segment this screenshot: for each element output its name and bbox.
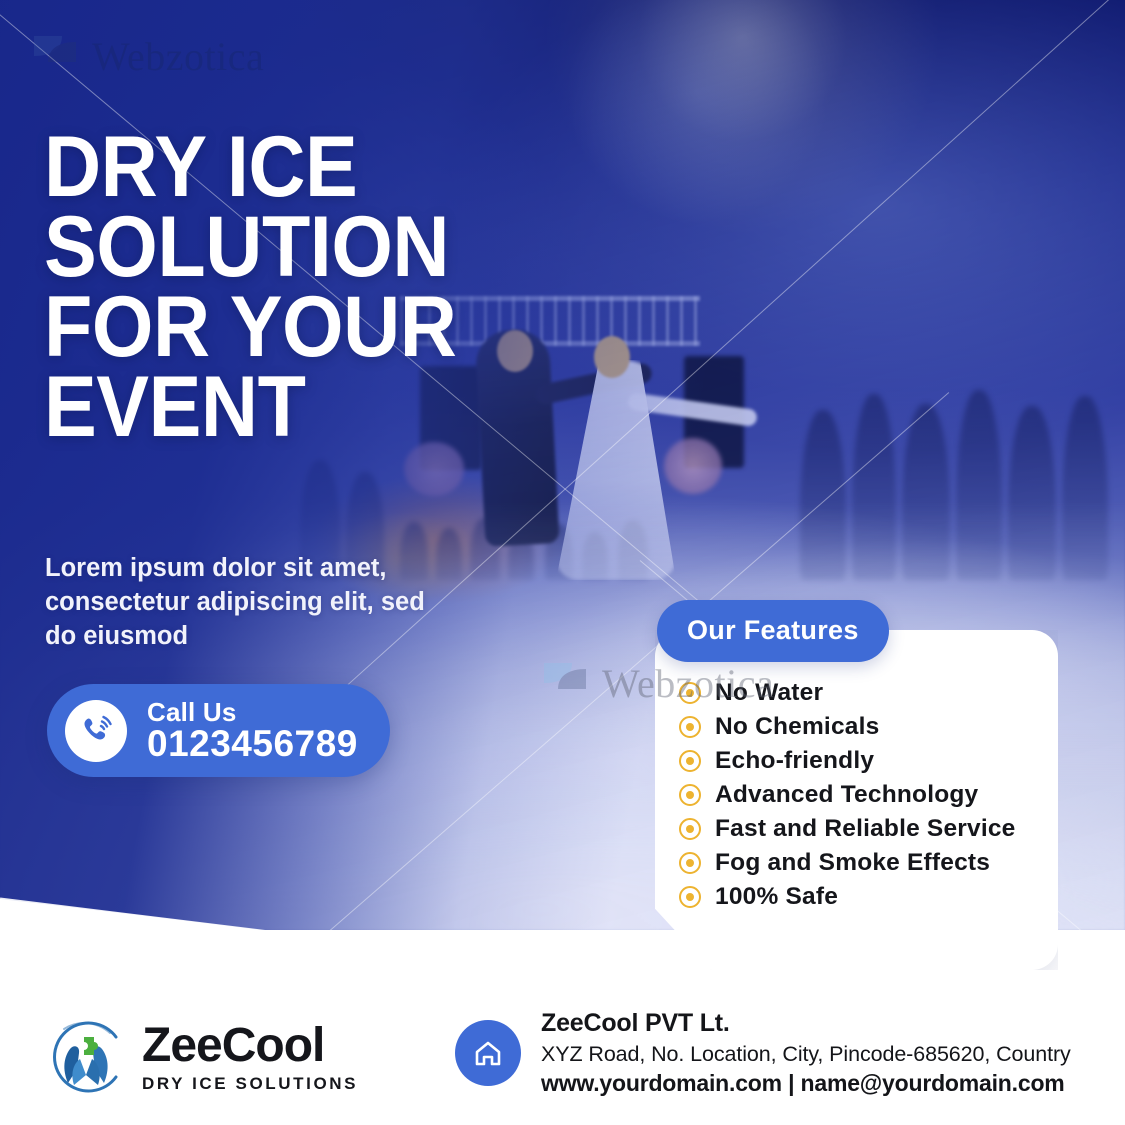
bullet-icon bbox=[679, 886, 701, 908]
feature-label: No Chemicals bbox=[715, 713, 879, 741]
contact-block: ZeeCool PVT Lt. XYZ Road, No. Location, … bbox=[455, 1007, 1071, 1099]
hands-puzzle-icon bbox=[44, 1015, 128, 1099]
contact-web-email[interactable]: www.yourdomain.com | name@yourdomain.com bbox=[541, 1068, 1071, 1099]
list-item: 100% Safe bbox=[679, 880, 1042, 914]
bullet-icon bbox=[679, 682, 701, 704]
contact-address: XYZ Road, No. Location, City, Pincode-68… bbox=[541, 1040, 1071, 1069]
list-item: Fast and Reliable Service bbox=[679, 812, 1042, 846]
footer-bar: ZeeCool DRY ICE SOLUTIONS ZeeCool PVT Lt… bbox=[0, 930, 1125, 1125]
bullet-icon bbox=[679, 784, 701, 806]
list-item: No Chemicals bbox=[679, 710, 1042, 744]
headline-line-3: FOR YOUR bbox=[44, 288, 440, 368]
headline-line-2: SOLUTION bbox=[44, 208, 440, 288]
headline-line-1: DRY ICE bbox=[44, 128, 440, 208]
features-list: No Water No Chemicals Echo-friendly Adva… bbox=[679, 676, 1042, 914]
feature-label: No Water bbox=[715, 679, 823, 707]
contact-company: ZeeCool PVT Lt. bbox=[541, 1007, 1071, 1040]
logo-text: ZeeCool DRY ICE SOLUTIONS bbox=[142, 1022, 358, 1092]
contact-text: ZeeCool PVT Lt. XYZ Road, No. Location, … bbox=[541, 1007, 1071, 1099]
feature-label: Fast and Reliable Service bbox=[715, 815, 1016, 843]
poster-canvas: Webzotica DRY ICE SOLUTION FOR YOUR EVEN… bbox=[0, 0, 1125, 1125]
list-item: Echo-friendly bbox=[679, 744, 1042, 778]
feature-label: Echo-friendly bbox=[715, 747, 874, 775]
logo-tagline: DRY ICE SOLUTIONS bbox=[142, 1075, 358, 1092]
list-item: Advanced Technology bbox=[679, 778, 1042, 812]
bullet-icon bbox=[679, 716, 701, 738]
home-icon bbox=[455, 1020, 521, 1086]
feature-label: Advanced Technology bbox=[715, 781, 978, 809]
our-features-badge: Our Features bbox=[657, 600, 889, 662]
phone-call-icon bbox=[65, 700, 127, 762]
feature-label: 100% Safe bbox=[715, 883, 838, 911]
call-us-text: Call Us 0123456789 bbox=[147, 699, 358, 762]
logo-name: ZeeCool bbox=[142, 1022, 358, 1070]
bullet-icon bbox=[679, 750, 701, 772]
bullet-icon bbox=[679, 852, 701, 874]
list-item: Fog and Smoke Effects bbox=[679, 846, 1042, 880]
features-card: No Water No Chemicals Echo-friendly Adva… bbox=[655, 630, 1058, 970]
call-us-number: 0123456789 bbox=[147, 723, 358, 764]
call-us-button[interactable]: Call Us 0123456789 bbox=[47, 684, 390, 777]
headline-line-4: EVENT bbox=[44, 368, 440, 448]
company-logo: ZeeCool DRY ICE SOLUTIONS bbox=[44, 1015, 358, 1099]
page-title: DRY ICE SOLUTION FOR YOUR EVENT bbox=[44, 128, 440, 448]
hero-subtext: Lorem ipsum dolor sit amet, consectetur … bbox=[45, 552, 445, 654]
bullet-icon bbox=[679, 818, 701, 840]
feature-label: Fog and Smoke Effects bbox=[715, 849, 990, 877]
list-item: No Water bbox=[679, 676, 1042, 710]
